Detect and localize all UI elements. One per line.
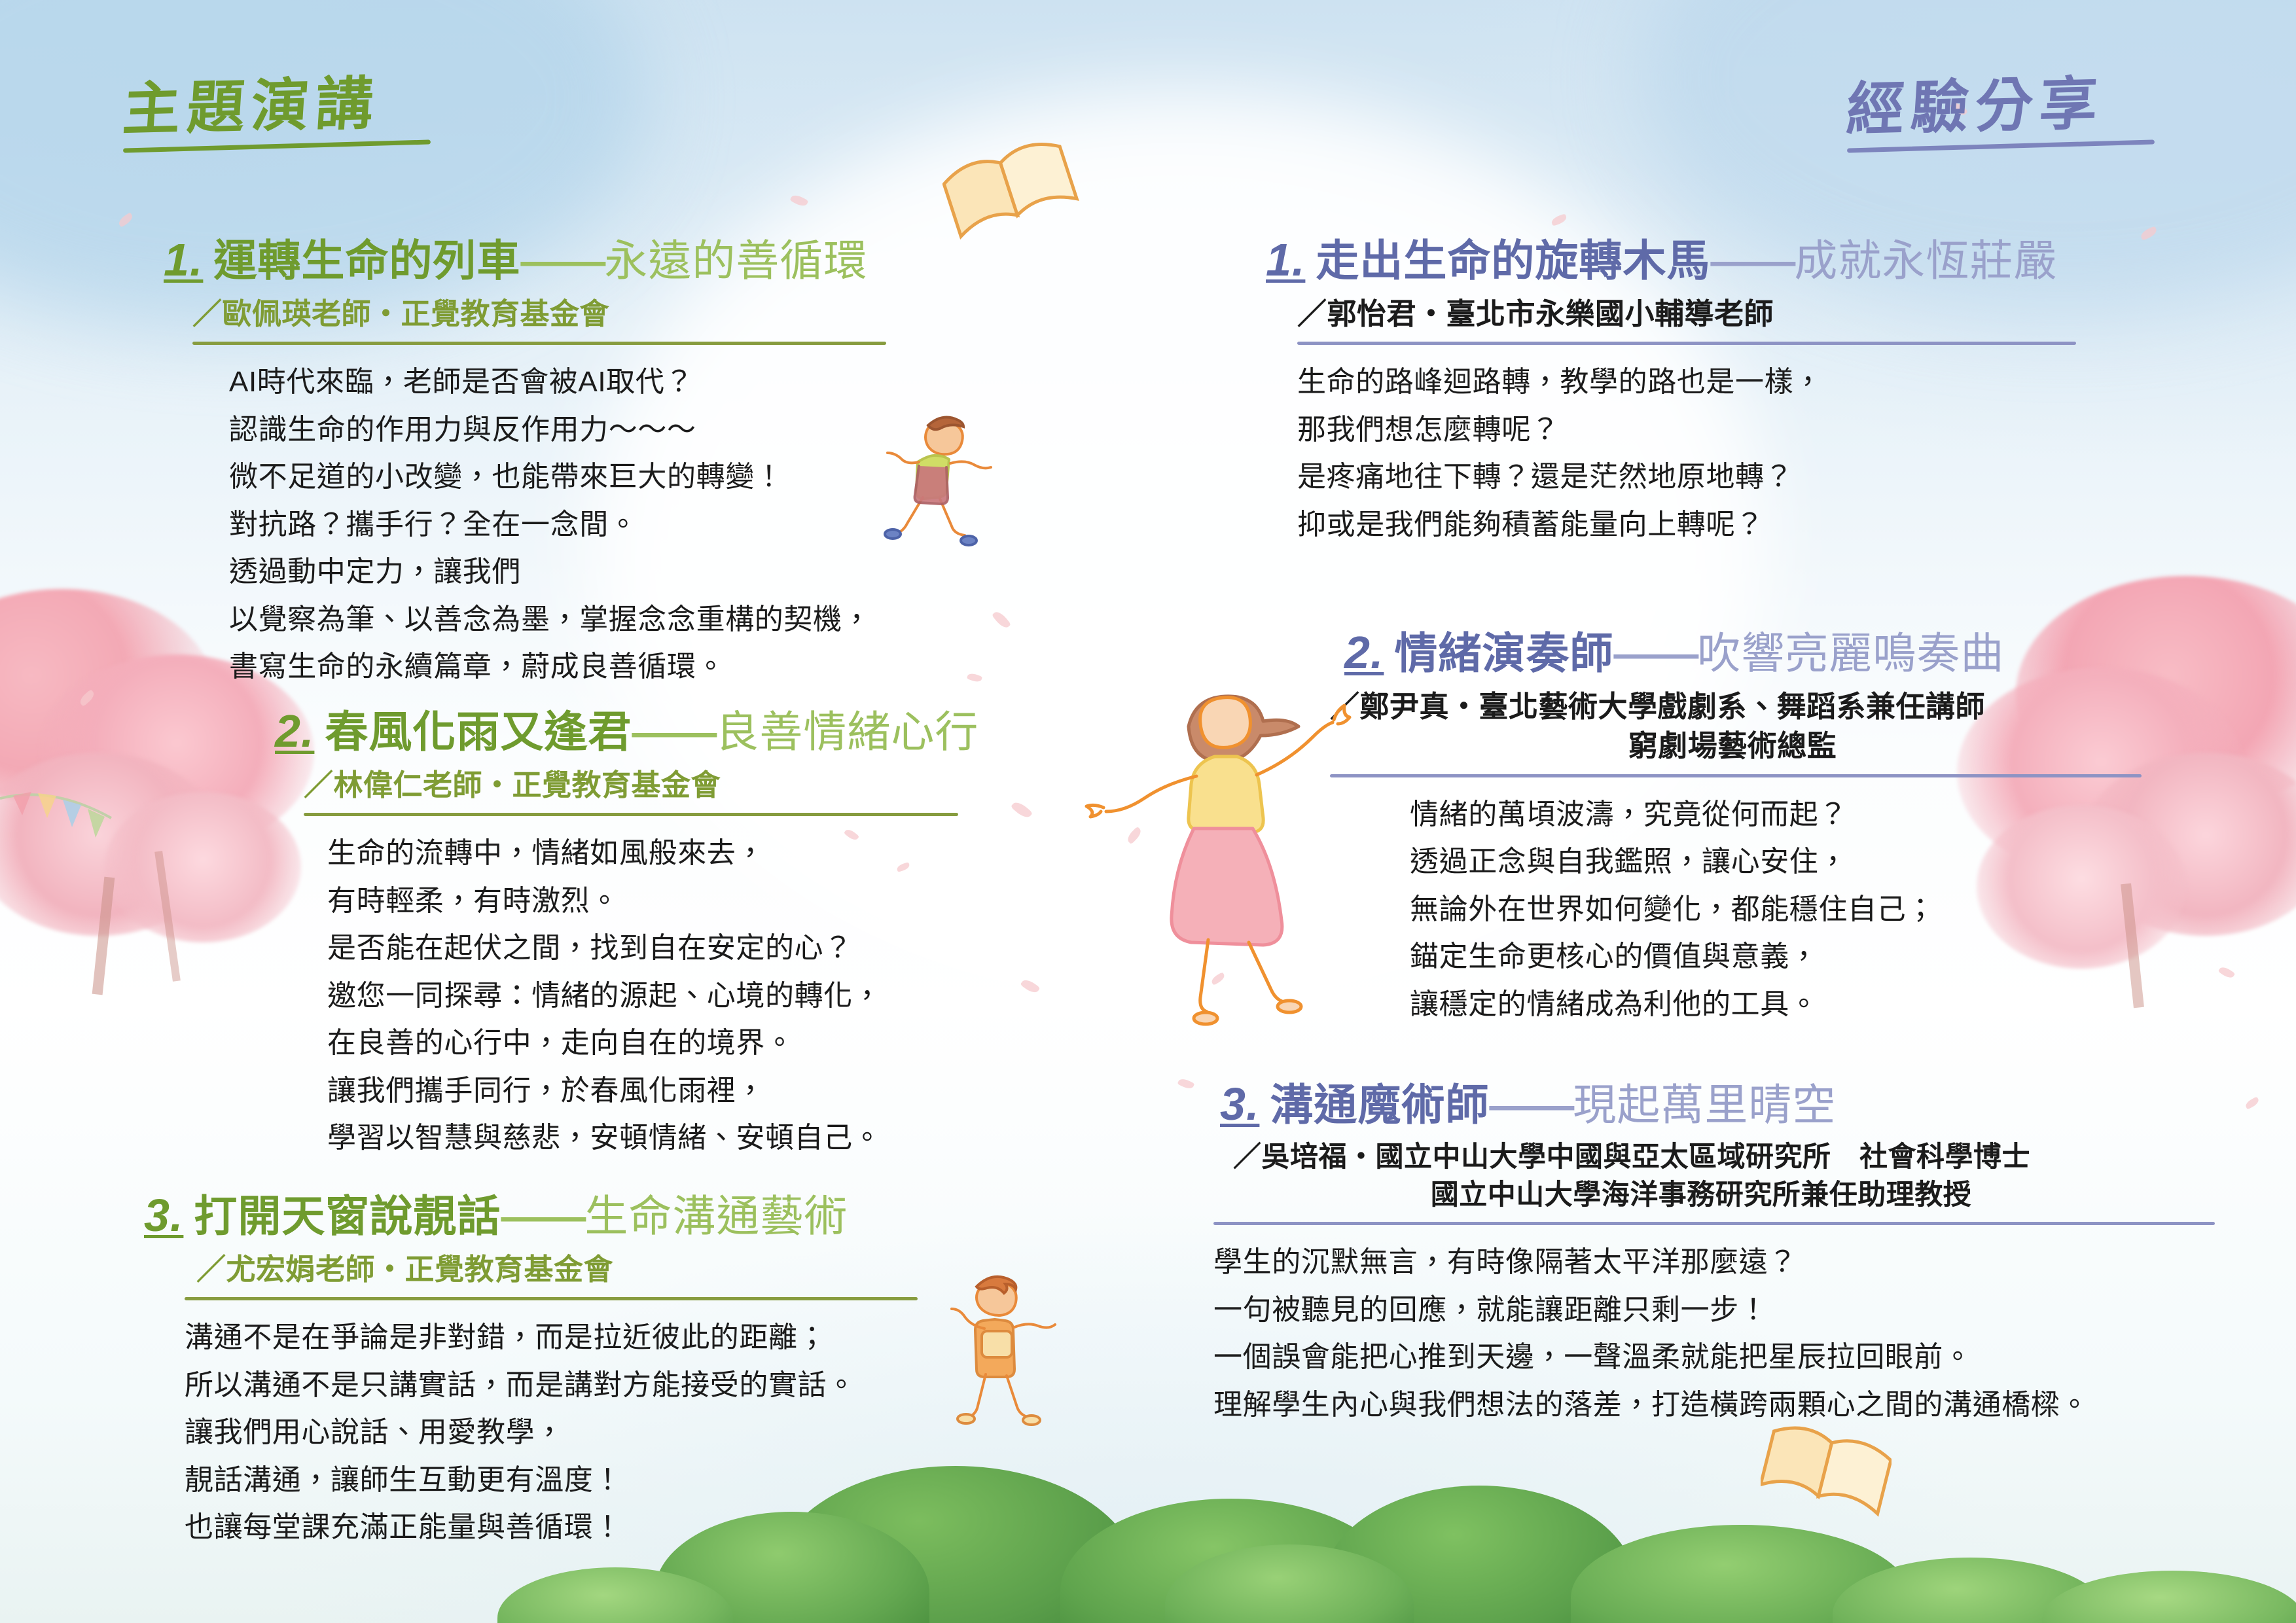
talk-body-line: 在良善的心行中，走向自在的境界。 — [327, 1023, 1145, 1063]
talk-speaker-line1: ／尤宏娟老師・正覺教育基金會 — [196, 1253, 613, 1286]
talk-number: 1. — [164, 234, 203, 285]
talk-title-sub: 生命溝通藝術 — [584, 1192, 848, 1240]
talk-title-main: 運轉生命的列車 — [213, 236, 520, 285]
talk-body-line: 靚話溝通，讓師生互動更有溫度！ — [185, 1460, 1093, 1501]
talk-heading: 3.溝通魔術師——現起萬里晴空 — [1220, 1080, 2280, 1128]
talk-card-right-3[interactable]: 3.溝通魔術師——現起萬里晴空 ／吳培福・國立中山大學中國與亞太區域研究所 社會… — [1220, 1080, 2280, 1432]
talk-speaker-line1: ／歐佩瑛老師・正覺教育基金會 — [192, 297, 609, 330]
talk-body-line: 生命的流轉中，情緒如風般來去， — [327, 833, 1145, 874]
talk-card-right-1[interactable]: 1.走出生命的旋轉木馬——成就永恆莊嚴 ／郭怡君・臺北市永樂國小輔導老師 生命的… — [1266, 236, 2248, 552]
talk-speaker-line1: ／吳培福・國立中山大學中國與亞太區域研究所 社會科學博士 — [1233, 1141, 2030, 1173]
talk-body-line: 有時輕柔，有時激烈。 — [327, 881, 1145, 921]
talk-body-line: 以覺察為筆、以善念為墨，掌握念念重構的契機， — [229, 599, 1093, 640]
talk-body: 學生的沉默無言，有時像隔著太平洋那麼遠？ 一句被聽見的回應，就能讓距離只剩一步！… — [1213, 1242, 2280, 1425]
talk-body-line: 理解學生內心與我們想法的落差，打造橫跨兩顆心之間的溝通橋樑。 — [1213, 1385, 2280, 1425]
talk-divider — [192, 342, 886, 345]
talk-body-line: 生命的路峰迴路轉，教學的路也是一樣， — [1297, 362, 2248, 402]
talk-body-line: 學習以智慧與慈悲，安頓情緒、安頓自己。 — [327, 1118, 1145, 1158]
talk-body: 生命的路峰迴路轉，教學的路也是一樣， 那我們想怎麼轉呢？ 是疼痛地往下轉？還是茫… — [1297, 362, 2248, 545]
talk-heading: 1.走出生命的旋轉木馬——成就永恆莊嚴 — [1266, 236, 2248, 284]
talk-title-dash: —— — [520, 236, 604, 285]
talk-speaker-line1: ／林偉仁老師・正覺教育基金會 — [304, 768, 721, 802]
dancing-woman — [1060, 648, 1368, 1054]
talk-heading: 3.打開天窗說靚話——生命溝通藝術 — [144, 1191, 1093, 1240]
talk-speaker-line2: 窮劇場藝術總監 — [1330, 726, 2135, 766]
talk-title-dash: —— — [501, 1192, 584, 1240]
talk-number: 3. — [1220, 1079, 1259, 1130]
talk-speaker-line1: ／鄭尹真・臺北藝術大學戲劇系、舞蹈系兼任講師 — [1330, 690, 1985, 723]
talk-title-dash: —— — [1613, 629, 1697, 677]
talk-body-line: 讓穩定的情緒成為利他的工具。 — [1410, 984, 2274, 1025]
talk-body: 生命的流轉中，情緒如風般來去， 有時輕柔，有時激烈。 是否能在起伏之間，找到自在… — [327, 833, 1145, 1158]
talk-title-main: 溝通魔術師 — [1270, 1080, 1489, 1129]
talk-body-line: 學生的沉默無言，有時像隔著太平洋那麼遠？ — [1213, 1242, 2280, 1283]
talk-divider — [185, 1297, 918, 1300]
talk-body-line: 無論外在世界如何變化，都能穩住自己； — [1410, 889, 2274, 930]
talk-body-line: 是疼痛地往下轉？還是茫然地原地轉？ — [1297, 457, 2248, 497]
talk-title-dash: —— — [1489, 1080, 1573, 1129]
talk-title-dash: —— — [1710, 236, 1794, 285]
talk-body-line: 一句被聽見的回應，就能讓距離只剩一步！ — [1213, 1290, 2280, 1330]
talk-body-line: 那我們想怎麼轉呢？ — [1297, 410, 2248, 450]
talk-speaker: ／鄭尹真・臺北藝術大學戲劇系、舞蹈系兼任講師 窮劇場藝術總監 — [1330, 687, 2274, 766]
section-title-text: 主題演講 — [121, 73, 433, 138]
talk-title-dash: —— — [632, 707, 715, 756]
talk-body-line: 讓我們攜手同行，於春風化雨裡， — [327, 1071, 1145, 1111]
talk-title-sub: 成就永恆莊嚴 — [1794, 236, 2057, 285]
talk-card-right-2[interactable]: 2.情緒演奏師——吹響亮麗鳴奏曲 ／鄭尹真・臺北藝術大學戲劇系、舞蹈系兼任講師 … — [1344, 628, 2274, 1031]
talk-speaker: ／歐佩瑛老師・正覺教育基金會 — [192, 294, 1093, 334]
talk-speaker: ／吳培福・國立中山大學中國與亞太區域研究所 社會科學博士 國立中山大學海洋事務研… — [1233, 1139, 2280, 1214]
section-title-theme-speeches: 主題演講 — [123, 77, 431, 149]
talk-number: 3. — [144, 1190, 183, 1241]
talk-divider — [304, 813, 958, 816]
talk-body: 情緒的萬頃波濤，究竟從何而起？ 透過正念與自我鑑照，讓心安住， 無論外在世界如何… — [1410, 794, 2274, 1025]
talk-divider — [1213, 1222, 2215, 1225]
talk-body-line: AI時代來臨，老師是否會被AI取代？ — [229, 362, 1093, 402]
talk-number: 1. — [1266, 234, 1305, 285]
talk-title-sub: 現起萬里晴空 — [1573, 1080, 1836, 1129]
talk-speaker-line2: 國立中山大學海洋事務研究所兼任助理教授 — [1233, 1177, 2169, 1215]
talk-title-sub: 良善情緒心行 — [715, 707, 978, 756]
talk-speaker: ／郭怡君・臺北市永樂國小輔導老師 — [1297, 294, 2248, 334]
talk-body-line: 情緒的萬頃波濤，究竟從何而起？ — [1410, 794, 2274, 835]
talk-body-line: 一個誤會能把心推到天邊，一聲溫柔就能把星辰拉回眼前。 — [1213, 1337, 2280, 1378]
talk-card-left-2[interactable]: 2.春風化雨又逢君——良善情緒心行 ／林偉仁老師・正覺教育基金會 生命的流轉中，… — [275, 707, 1145, 1166]
talk-body-line: 也讓每堂課充滿正能量與善循環！ — [185, 1507, 1093, 1548]
talk-body-line: 書寫生命的永續篇章，蔚成良善循環。 — [229, 647, 1093, 687]
talk-body-line: 是否能在起伏之間，找到自在安定的心？ — [327, 928, 1145, 969]
talk-title-sub: 吹響亮麗鳴奏曲 — [1697, 629, 2004, 677]
running-boy — [851, 406, 1008, 569]
talk-heading: 2.情緒演奏師——吹響亮麗鳴奏曲 — [1344, 628, 2274, 677]
talk-speaker: ／林偉仁老師・正覺教育基金會 — [304, 766, 1145, 805]
talk-divider — [1297, 342, 2076, 345]
talk-speaker-line1: ／郭怡君・臺北市永樂國小輔導老師 — [1297, 297, 1774, 330]
talk-body-line: 抑或是我們能夠積蓄能量向上轉呢？ — [1297, 505, 2248, 545]
section-title-experience-sharing: 經驗分享 — [1847, 77, 2155, 149]
talk-title-main: 打開天窗說靚話 — [194, 1192, 501, 1240]
talk-body-line: 透過正念與自我鑑照，讓心安住， — [1410, 842, 2274, 882]
talk-title-main: 情緒演奏師 — [1394, 629, 1613, 677]
section-title-text: 經驗分享 — [1845, 73, 2157, 138]
talk-body-line: 錨定生命更核心的價值與意義， — [1410, 936, 2274, 977]
talk-number: 2. — [275, 705, 314, 757]
talk-heading: 2.春風化雨又逢君——良善情緒心行 — [275, 707, 1145, 755]
talk-title-sub: 永遠的善循環 — [604, 236, 867, 285]
jumping-girl — [916, 1263, 1073, 1446]
talk-title-main: 走出生命的旋轉木馬 — [1316, 236, 1710, 285]
talk-body-line: 邀您一同探尋：情緒的源起、心境的轉化， — [327, 976, 1145, 1016]
talk-heading: 1.運轉生命的列車——永遠的善循環 — [164, 236, 1093, 284]
talk-title-main: 春風化雨又逢君 — [325, 707, 632, 756]
talk-divider — [1330, 774, 2142, 777]
